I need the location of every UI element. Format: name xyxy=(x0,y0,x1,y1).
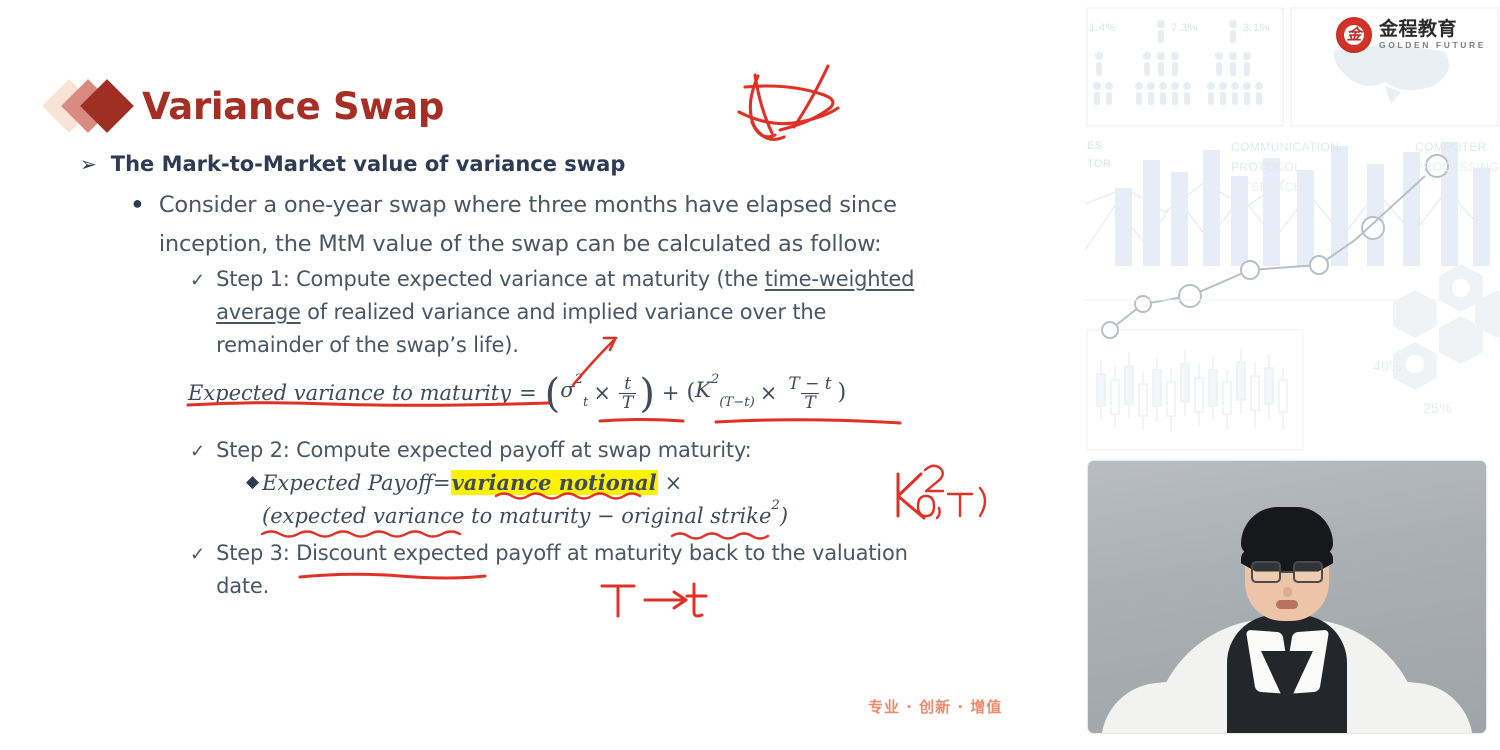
slide-screenshot: Variance Swap ➢ The Mark-to-Market value… xyxy=(0,0,1500,750)
bg-label-4: TOR xyxy=(1087,158,1111,170)
background-infographic xyxy=(1085,0,1500,460)
step-3-line2: date. xyxy=(216,574,269,598)
formula1-close-paren-2: ) xyxy=(838,380,847,405)
formula1-plus: + xyxy=(655,381,687,405)
bullet-heading: ➢ The Mark-to-Market value of variance s… xyxy=(80,150,625,178)
payoff-equals: = xyxy=(433,471,451,495)
formula1-equals: = xyxy=(511,381,545,405)
check-bullet-icon-3: ✓ xyxy=(190,537,205,571)
bg-label-2: 3.1% xyxy=(1243,22,1270,34)
step-3-line1: Step 3: Discount expected payoff at matu… xyxy=(216,541,908,565)
payoff-line2-pre: (expected variance to maturity − origina… xyxy=(262,504,771,528)
logo-seal-glyph: 金 xyxy=(1346,28,1361,43)
slide-footer-slogan: 专业 · 创新 · 增值 xyxy=(868,696,1002,717)
bg-label-1: 7.3% xyxy=(1171,22,1198,34)
formula1-sigma: σ2t xyxy=(560,378,588,406)
star-doodle-icon xyxy=(739,66,838,139)
step-3-item: ✓ Step 3: Discount expected payoff at ma… xyxy=(190,537,1000,603)
ink-underline-k xyxy=(716,420,900,423)
check-bullet-icon-2: ✓ xyxy=(190,434,205,468)
right-side-panel: 1.4% 7.3% 3.1% ES TOR COMMUNICATION PROT… xyxy=(1085,0,1500,750)
step-1-line3: remainder of the swap’s life). xyxy=(216,333,519,357)
arrow-bullet-icon: ➢ xyxy=(80,150,97,178)
bg-label-6: PROTOCOL xyxy=(1231,160,1301,174)
logo-text-block: 金程教育 GOLDEN FUTURE xyxy=(1379,20,1486,50)
presenter-glasses-bridge xyxy=(1281,571,1293,573)
presenter-glasses-right xyxy=(1293,561,1323,583)
expected-variance-formula: Expected variance to maturity = ( σ2t × … xyxy=(188,374,846,411)
expected-payoff-formula-line2: (expected variance to maturity − origina… xyxy=(262,504,788,528)
formula1-lhs: Expected variance to maturity xyxy=(188,381,511,405)
step-1-underline-1: time-weighted xyxy=(765,267,914,291)
bg-label-5: COMMUNICATION xyxy=(1231,140,1339,154)
page-title: Variance Swap xyxy=(142,88,444,125)
presenter-glasses-left xyxy=(1251,561,1281,583)
intro-bullet: ● Consider a one-year swap where three m… xyxy=(132,186,962,264)
logo-english-name: GOLDEN FUTURE xyxy=(1379,41,1486,50)
ink-underline-sigma xyxy=(600,420,683,422)
logo-chinese-name: 金程教育 xyxy=(1379,20,1486,39)
formula1-close-paren: ) xyxy=(639,378,655,410)
presenter-mouth xyxy=(1276,600,1298,609)
ink-k-squared-0T xyxy=(898,466,985,518)
formula1-open-paren: ( xyxy=(545,378,561,410)
candlestick-chart xyxy=(1097,348,1287,432)
formula1-fraction-1: t T xyxy=(619,375,636,412)
presentation-slide: Variance Swap ➢ The Mark-to-Market value… xyxy=(0,0,1085,750)
step-1-item: ✓ Step 1: Compute expected variance at m… xyxy=(190,263,1000,362)
payoff-label: Expected Payoff xyxy=(262,471,433,495)
ink-squiggle-expected-variance xyxy=(262,532,460,537)
step-1-line2-post: of realized variance and implied varianc… xyxy=(301,300,827,324)
presenter-nose xyxy=(1283,587,1292,597)
formula1-fraction-2: T − t T xyxy=(785,375,834,412)
formula1-k: K2(T−t) xyxy=(695,378,755,406)
slide-title-block: Variance Swap xyxy=(50,78,444,134)
bg-label-3: ES xyxy=(1087,140,1102,152)
payoff-times: × xyxy=(658,471,683,495)
payoff-line2-sup: 2 xyxy=(771,498,779,513)
bg-label-7: INTERFACE xyxy=(1231,180,1302,194)
presenter-video-panel[interactable] xyxy=(1088,461,1486,733)
intro-line-2: inception, the MtM value of the swap can… xyxy=(159,231,882,257)
step-1-underline-2: average xyxy=(216,300,301,324)
bg-label-0: 1.4% xyxy=(1089,22,1116,34)
brand-logo: 金 金程教育 GOLDEN FUTURE xyxy=(1336,17,1486,53)
hexagon-cluster xyxy=(1393,264,1500,390)
formula1-times-1: × xyxy=(588,381,616,405)
step-2-item: ✓ Step 2: Compute expected payoff at swa… xyxy=(190,434,1000,468)
step-1-text: Step 1: Compute expected variance at mat… xyxy=(216,263,914,362)
bg-label-11: 25% xyxy=(1423,400,1452,416)
presenter-hair xyxy=(1241,507,1333,555)
bg-label-8: COMPUTER xyxy=(1415,140,1487,154)
bg-label-9: PROCESSING xyxy=(1415,160,1499,174)
bullet-heading-label: The Mark-to-Market value of variance swa… xyxy=(111,150,626,178)
bg-label-10: 40% xyxy=(1373,358,1402,374)
step-2-text: Step 2: Compute expected payoff at swap … xyxy=(216,434,751,467)
diamond-decoration-icon xyxy=(50,78,136,134)
payoff-line2-post: ) xyxy=(780,504,788,528)
diamond-bullet-icon: ◆ xyxy=(246,472,259,492)
logo-seal-icon: 金 xyxy=(1336,17,1372,53)
presenter-vest-vee xyxy=(1261,651,1313,707)
intro-line-1: Consider a one-year swap where three mon… xyxy=(159,192,897,218)
dot-bullet-icon: ● xyxy=(132,186,143,220)
formula1-open-paren-2: ( xyxy=(687,380,696,405)
formula1-times-2: × xyxy=(755,381,783,405)
payoff-highlight-variance-notional: variance notional xyxy=(451,470,658,495)
check-bullet-icon: ✓ xyxy=(190,263,205,297)
intro-text: Consider a one-year swap where three mon… xyxy=(159,186,897,264)
step-1-line1-pre: Step 1: Compute expected variance at mat… xyxy=(216,267,765,291)
step-3-text: Step 3: Discount expected payoff at matu… xyxy=(216,537,908,603)
expected-payoff-formula-line1: ◆ Expected Payoff = variance notional × xyxy=(246,470,682,495)
